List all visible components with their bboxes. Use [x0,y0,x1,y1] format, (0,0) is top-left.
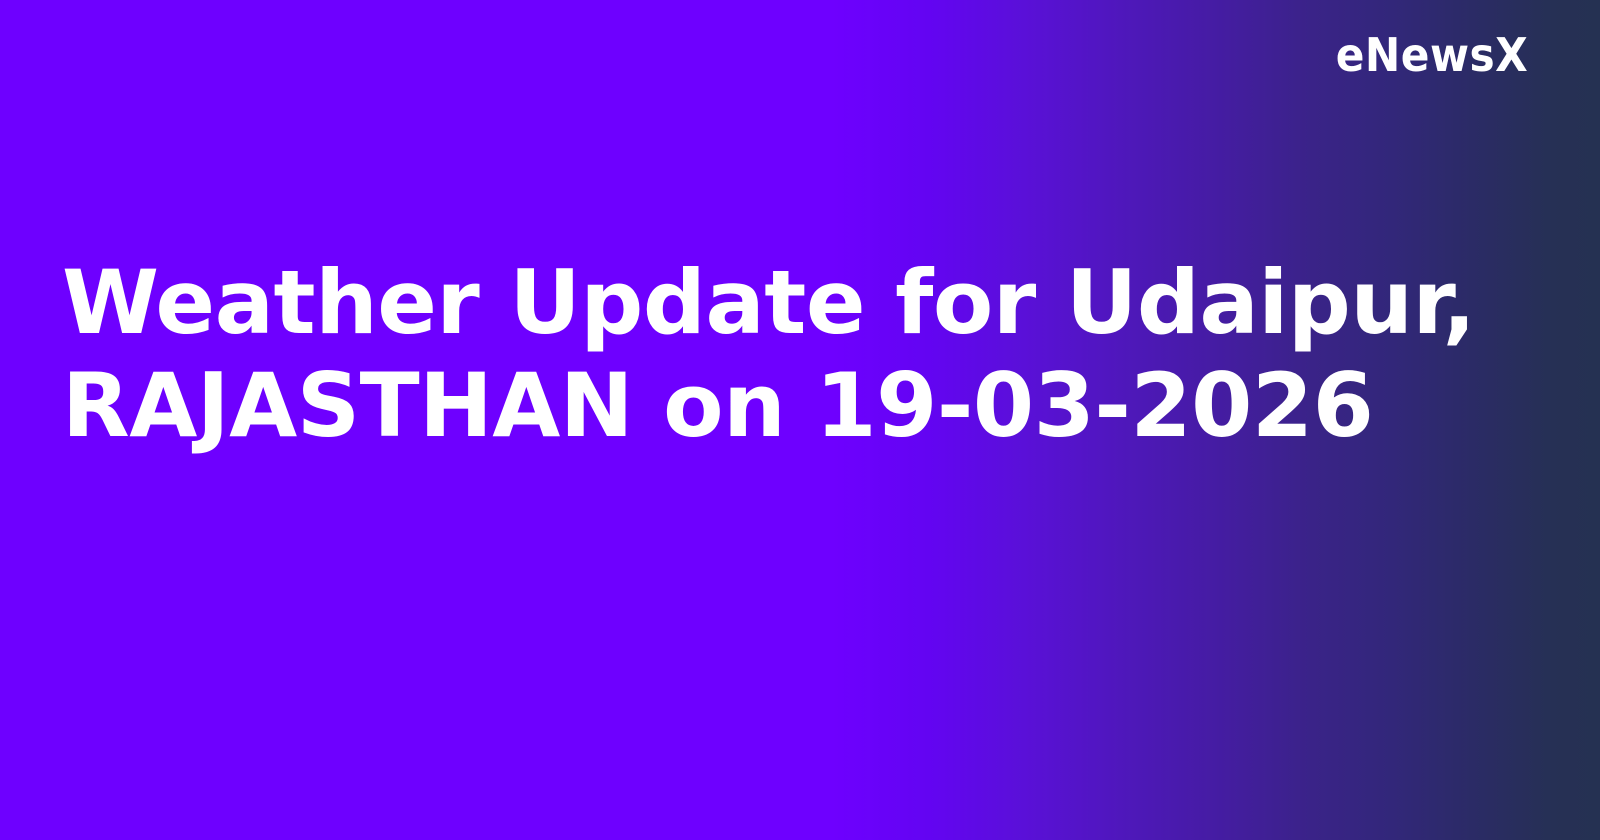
headline-line-2: RAJASTHAN on 19-03-2026 [62,355,1482,458]
page-title: Weather Update for Udaipur, RAJASTHAN on… [62,252,1482,458]
weather-update-banner: eNewsX Weather Update for Udaipur, RAJAS… [0,0,1600,840]
brand-name-text: eNewsX [1335,32,1528,78]
brand-logo[interactable]: eNewsX [1319,32,1528,78]
headline-block: Weather Update for Udaipur, RAJASTHAN on… [62,252,1482,458]
headline-line-1: Weather Update for Udaipur, [62,252,1482,355]
